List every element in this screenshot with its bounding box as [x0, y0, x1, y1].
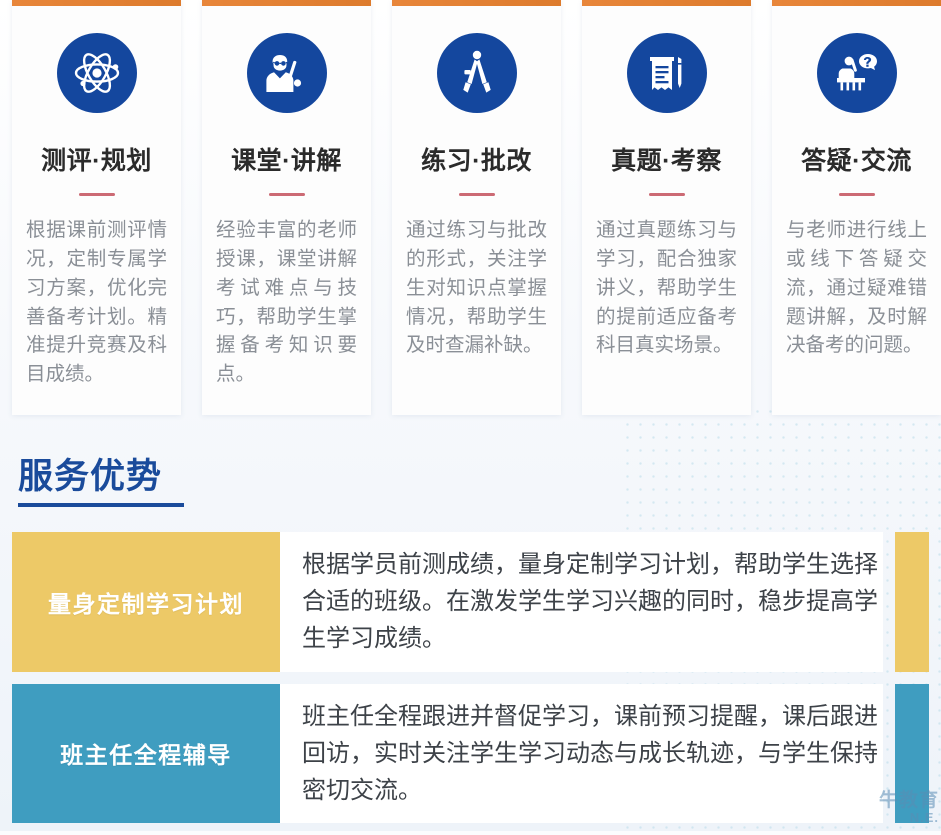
advantage-row-custom-plan[interactable]: 量身定制学习计划 根据学员前测成绩，量身定制学习计划，帮助学生选择合适的班级。在… — [0, 532, 941, 672]
card-description: 经验丰富的老师授课，课堂讲解考试难点与技巧，帮助学生掌握备考知识要点。 — [216, 216, 357, 389]
exam-paper-pencil-icon — [627, 33, 707, 113]
card-title: 练习·批改 — [421, 141, 532, 177]
feature-card-past-papers[interactable]: 真题·考察 通过真题练习与学习，配合独家讲义，帮助学生的提前适应备考科目真实场景… — [582, 0, 751, 415]
title-divider — [649, 193, 685, 196]
card-title: 答疑·交流 — [801, 141, 912, 177]
title-divider — [269, 193, 305, 196]
compass-divider-icon — [437, 33, 517, 113]
title-divider — [79, 193, 115, 196]
teacher-pointer-icon — [247, 33, 327, 113]
card-description: 根据课前测评情况，定制专属学习方案，优化完善备考计划。精准提升竞赛及科目成绩。 — [26, 216, 167, 389]
student-question-icon — [817, 33, 897, 113]
card-accent-bar — [12, 0, 181, 6]
feature-card-assessment[interactable]: 测评·规划 根据课前测评情况，定制专属学习方案，优化完善备考计划。精准提升竞赛及… — [12, 0, 181, 415]
feature-card-practice[interactable]: 练习·批改 通过练习与批改的形式，关注学生对知识点掌握情况，帮助学生及时查漏补缺… — [392, 0, 561, 415]
card-title: 测评·规划 — [41, 141, 152, 177]
advantage-label: 班主任全程辅导 — [12, 684, 280, 824]
advantage-edge-accent — [895, 532, 929, 672]
card-title: 真题·考察 — [611, 141, 722, 177]
advantage-row-head-teacher[interactable]: 班主任全程辅导 班主任全程跟进并督促学习，课前预习提醒，课后跟进回访，实时关注学… — [0, 684, 941, 824]
page-root: 测评·规划 根据课前测评情况，定制专属学习方案，优化完善备考计划。精准提升竞赛及… — [0, 0, 941, 831]
advantage-edge-accent — [895, 684, 929, 824]
feature-cards-row: 测评·规划 根据课前测评情况，定制专属学习方案，优化完善备考计划。精准提升竞赛及… — [0, 0, 941, 422]
card-accent-bar — [582, 0, 751, 6]
feature-card-lecture[interactable]: 课堂·讲解 经验丰富的老师授课，课堂讲解考试难点与技巧，帮助学生掌握备考知识要点… — [202, 0, 371, 415]
title-divider — [839, 193, 875, 196]
advantage-description: 班主任全程跟进并督促学习，课前预习提醒，课后跟进回访，实时关注学生学习动态与成长… — [280, 684, 883, 824]
card-description: 通过练习与批改的形式，关注学生对知识点掌握情况，帮助学生及时查漏补缺。 — [406, 216, 547, 360]
advantages-list: 量身定制学习计划 根据学员前测成绩，量身定制学习计划，帮助学生选择合适的班级。在… — [0, 532, 941, 835]
feature-card-qa[interactable]: 答疑·交流 与老师进行线上或线下答疑交流，通过疑难错题讲解，及时解决备考的问题。 — [772, 0, 941, 415]
card-accent-bar — [392, 0, 561, 6]
card-description: 与老师进行线上或线下答疑交流，通过疑难错题讲解，及时解决备考的问题。 — [786, 216, 927, 360]
card-title: 课堂·讲解 — [231, 141, 342, 177]
advantage-description: 根据学员前测成绩，量身定制学习计划，帮助学生选择合适的班级。在激发学生学习兴趣的… — [280, 532, 883, 672]
page-title: 服务优势 — [18, 458, 278, 497]
card-accent-bar — [772, 0, 941, 6]
title-divider — [459, 193, 495, 196]
card-description: 通过真题练习与学习，配合独家讲义，帮助学生的提前适应备考科目真实场景。 — [596, 216, 737, 360]
advantage-label: 量身定制学习计划 — [12, 532, 280, 672]
atom-icon — [57, 33, 137, 113]
section-underline — [18, 503, 184, 507]
section-heading: 服务优势 — [18, 458, 278, 507]
card-accent-bar — [202, 0, 371, 6]
